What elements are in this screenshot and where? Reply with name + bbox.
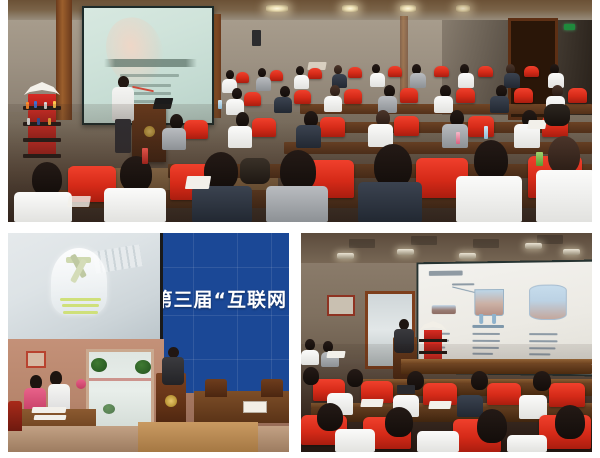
desk-item [76,379,86,389]
seat [344,89,362,104]
audience-torso [192,186,252,222]
seat [478,66,493,77]
slide-bulb-line [63,311,97,314]
wall-notice-frame [327,295,355,316]
water-bottle [218,100,222,109]
potted-plant-icon [103,404,115,414]
audience-head [280,86,290,97]
notebook-paper [185,176,211,189]
seat [468,116,494,137]
seat [524,66,539,77]
potted-plant-icon [91,358,107,372]
recycle-icon [66,257,91,274]
seat [236,72,249,83]
fire-alarm-box-icon [26,351,46,368]
seat [568,88,587,103]
ceiling-panel [411,236,437,245]
document-papers [34,415,67,420]
audience-torso [458,73,474,88]
seat [514,88,533,103]
audience-torso [490,96,509,113]
audience-head [330,85,340,96]
audience-torso [266,186,328,222]
audience-head [372,64,380,73]
audience-head [317,403,343,431]
panel-seam [237,233,238,393]
slide-caption-line [529,340,558,342]
panel-seam [271,233,272,393]
audience-torso [335,429,375,452]
seat [252,118,276,137]
ceiling-lamp-icon [525,243,542,249]
audience-torso [434,96,453,113]
name-card [243,401,267,413]
water-bottle [456,132,460,144]
audience-torso [370,73,385,87]
ceiling-panel [349,239,375,248]
seat [388,66,402,77]
ceiling-lamp-icon [563,249,580,255]
audience-torso [324,96,342,112]
ceiling-lamp-icon [459,253,476,259]
audience-torso [504,73,520,88]
slide-diagram-dish [432,305,456,314]
audience-torso [457,395,483,417]
audience-torso [104,188,166,222]
slide-bulb-line [60,298,101,301]
seat [308,68,322,79]
audience-torso [228,126,252,148]
pagoda-tier [424,330,442,339]
audience-head [334,65,342,74]
wall-pillar [400,16,408,96]
slide-subtitle-line [120,74,179,77]
seat [348,67,362,78]
audience-torso [296,125,321,148]
notebook-paper [428,401,451,409]
exit-sign-icon [564,24,575,30]
slide-graphic [100,12,170,93]
audience-torso [162,128,186,150]
ceiling-lamp-icon [400,5,416,12]
audience-head [347,369,363,387]
slide-diagram-leg [480,314,484,324]
auditorium-scene [8,0,592,222]
drink-cup [536,152,543,166]
tablet-device [397,385,415,394]
audience-head [474,140,508,180]
thermos [142,148,148,164]
judges-chair [261,379,283,397]
auditorium-seat [8,401,22,431]
slide-body-line [128,92,172,95]
wall-speaker-icon [252,30,261,46]
audience-head [258,68,266,77]
audience-head [236,112,249,127]
panel-seam [193,233,194,393]
corridor-rail [89,378,151,381]
audience-head [226,70,234,79]
notebook-paper [67,196,91,207]
audience-head [232,88,242,99]
slide-diagram-vessel [474,289,504,315]
ceiling-lamp-icon [456,5,470,12]
audience-torso [358,182,422,222]
audience-torso [256,77,271,91]
seat [294,90,311,104]
audience-torso [274,97,292,113]
stage-platform [138,422,258,452]
slide-title-text [428,270,462,275]
backpack [544,104,570,126]
water-bottle [484,126,488,139]
audience-torso [442,124,468,148]
audience-torso [417,431,459,452]
audience-torso [456,176,522,222]
document-papers [31,407,66,413]
blue-banner-stage-photo: 第三届“互联网 [8,233,289,452]
audience-head [477,409,507,443]
judges-chair [205,379,227,397]
slide-title-text [104,59,196,67]
seat [400,88,418,103]
event-banner-text: 第三届“互联网 [154,285,288,312]
audience-head [555,405,585,439]
audience-head [305,339,315,350]
audience-head [471,371,488,390]
slide-caption-line [473,333,501,335]
seat [394,116,419,136]
audience-head [385,407,413,437]
slide-arrow [452,287,476,294]
audience-head [32,162,62,196]
audience-head [170,114,183,129]
seat [456,88,475,103]
slide-caption-line [473,340,501,342]
slide-diagram-leg [492,314,496,324]
host-body [162,357,184,385]
seat [434,66,449,77]
ceiling-lamp-icon [266,5,288,12]
audience-torso [294,75,309,89]
seat [320,117,345,137]
staff-head [30,375,42,389]
audience-head [296,66,304,75]
slide-diagram-base [473,325,504,328]
ceiling-lamp-icon [337,253,354,259]
projection-screen [8,233,163,342]
notebook-paper [326,351,345,358]
audience-head [303,367,319,385]
notebook-paper [360,399,383,407]
staff-head [50,371,62,385]
ceiling-lamp-icon [342,5,358,12]
panel-seam [159,267,289,268]
slide-bulb-line [62,304,99,307]
audience-head [533,371,551,391]
seat [270,70,283,81]
ceiling-panel [473,239,499,248]
audience-torso [301,350,319,365]
hall-diagram-slide-photo [301,233,592,452]
slide-arrow-label [452,283,474,285]
audience-torso [536,170,592,222]
seat [549,383,585,407]
audience-torso [410,73,426,88]
photo-collage: 第三届“互联网 [0,0,600,458]
podium-emblem-icon [165,395,177,407]
slide-caption-line [529,333,558,335]
seat [184,120,208,139]
slide-diagram-cylinder [529,284,567,320]
audience-torso [14,192,72,222]
potted-plant-icon [135,360,151,374]
banner-stage-scene: 第三届“互联网 [8,233,289,452]
lecture-hall-scene [301,233,592,452]
seat [244,92,261,106]
seat [487,383,521,405]
backpack [240,158,270,184]
auditorium-overview-photo [8,0,592,222]
panel-seam [159,315,289,316]
audience-torso [507,435,547,452]
ceiling-lamp-icon [397,249,414,255]
audience-head [548,136,580,174]
